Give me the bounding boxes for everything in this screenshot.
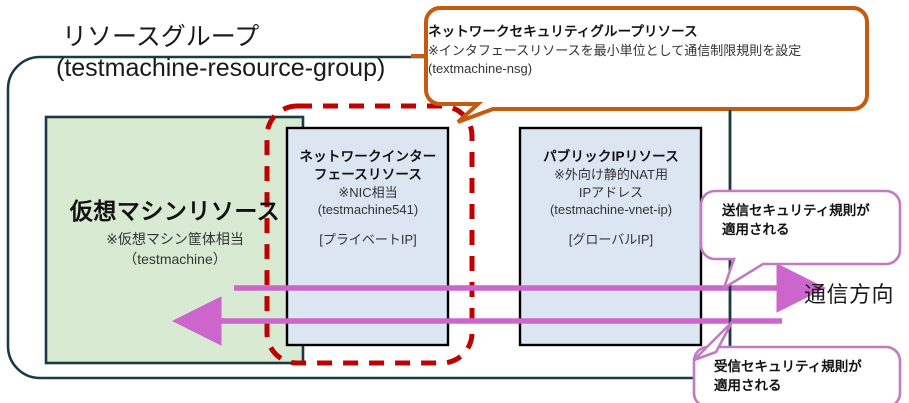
public-ip-resource-note-line1: ※外向け静的NAT用 <box>522 166 700 184</box>
public-ip-ip-label: [グローバルIP] <box>522 231 700 249</box>
public-ip-resource-note-line2: IPアドレス <box>522 184 700 202</box>
nic-resource-title-line1: ネットワークインター <box>288 148 448 166</box>
public-ip-spacer <box>522 219 700 231</box>
nic-ip-label: [プライベートIP] <box>288 231 448 249</box>
resource-group-title-line1: リソースグループ <box>56 22 416 53</box>
public-ip-resource-name: (testmachine-vnet-ip) <box>522 201 700 219</box>
outbound-callout-line2: 適用される <box>722 222 790 237</box>
vm-resource-label: 仮想マシンリソース ※仮想マシン筐体相当 （testmachine） <box>46 192 304 269</box>
nsg-callout-title: ネットワークセキュリティグループリソース <box>428 22 858 42</box>
inbound-callout-line2: 適用される <box>714 378 782 393</box>
vm-resource-name: （testmachine） <box>46 249 304 269</box>
nsg-callout-note: ※インタフェースリソースを最小単位として通信制限規則を設定 <box>428 42 858 60</box>
inbound-callout-label: 受信セキュリティ規則が 適用される <box>714 357 884 395</box>
nic-spacer <box>288 219 448 231</box>
inbound-callout-line1: 受信セキュリティ規則が <box>714 359 862 374</box>
resource-group-title-line2: (testmachine-resource-group) <box>56 53 416 84</box>
outbound-callout-label: 送信セキュリティ規則が 適用される <box>722 201 892 239</box>
public-ip-resource-label: パブリックIPリソース ※外向け静的NAT用 IPアドレス (testmachi… <box>522 148 700 248</box>
outbound-callout-line1: 送信セキュリティ規則が <box>722 203 870 218</box>
nic-resource-name: (testmachine541) <box>288 201 448 219</box>
nsg-callout-label: ネットワークセキュリティグループリソース ※インタフェースリソースを最小単位とし… <box>428 22 858 78</box>
public-ip-resource-title: パブリックIPリソース <box>522 148 700 166</box>
nic-resource-note: ※NIC相当 <box>288 184 448 202</box>
resource-group-title: リソースグループ (testmachine-resource-group) <box>56 22 416 83</box>
diagram-canvas: リソースグループ (testmachine-resource-group) 仮想… <box>0 0 909 403</box>
vm-resource-note: ※仮想マシン筐体相当 <box>46 229 304 249</box>
nsg-callout-name: (textmachine-nsg) <box>428 60 858 78</box>
direction-label: 通信方向 <box>804 277 894 309</box>
nic-resource-title-line2: フェースリソース <box>288 166 448 184</box>
nic-resource-label: ネットワークインター フェースリソース ※NIC相当 (testmachine5… <box>288 148 448 249</box>
vm-resource-title: 仮想マシンリソース <box>46 192 304 226</box>
